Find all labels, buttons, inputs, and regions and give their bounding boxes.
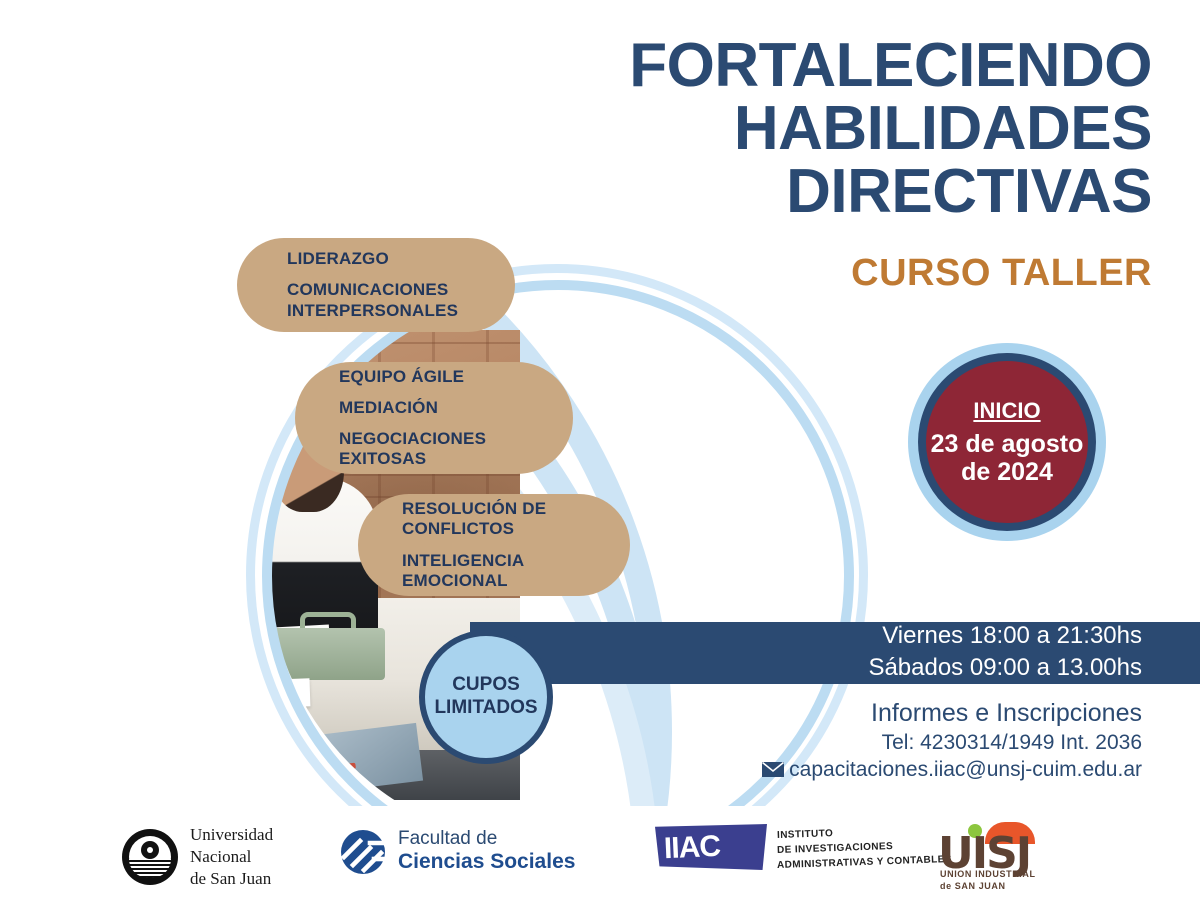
unsj-line-1: Universidad [190, 824, 273, 846]
unsj-logo-text: Universidad Nacional de San Juan [190, 824, 273, 889]
decor-ring-right-1 [1132, 428, 1200, 594]
topic-pill-equipo-agile: EQUIPO ÁGILE MEDIACIÓN NEGOCIACIONES EXI… [295, 362, 573, 474]
logo-unsj: Universidad Nacional de San Juan [122, 824, 273, 889]
contact-email-row: capacitaciones.iiac@unsj-cuim.edu.ar [762, 756, 1142, 783]
topic-line: INTERPERSONALES [287, 301, 515, 321]
iiac-mark-icon: IIAC [655, 824, 767, 870]
unsj-seal-icon [122, 829, 178, 885]
logo-facultad-ciencias-sociales: Facultad de Ciencias Sociales [340, 828, 575, 875]
poster-subtitle: CURSO TALLER [851, 252, 1152, 295]
unsj-line-2: Nacional [190, 846, 273, 868]
uisj-logo-text: UNION INDUSTRIAL de SAN JUAN [940, 868, 1036, 892]
uisj-line-2: de SAN JUAN [940, 880, 1036, 892]
poster-canvas: FORTALECIENDO HABILIDADES DIRECTIVAS CUR… [0, 0, 1200, 900]
facultad-line-1: Facultad de [398, 828, 575, 850]
contact-phone: Tel: 4230314/1949 Int. 2036 [762, 729, 1142, 756]
contact-email[interactable]: capacitaciones.iiac@unsj-cuim.edu.ar [789, 756, 1142, 783]
topic-line: LIDERAZGO [287, 249, 515, 269]
envelope-icon [762, 762, 784, 777]
facultad-logo-text: Facultad de Ciencias Sociales [398, 828, 575, 875]
iiac-logo-text: INSTITUTO DE INVESTIGACIONES ADMINISTRAT… [777, 825, 952, 870]
schedule-line-1: Viernes 18:00 a 21:30hs [868, 620, 1142, 652]
topic-line: RESOLUCIÓN DE [402, 499, 630, 519]
logo-iiac: IIAC INSTITUTO DE INVESTIGACIONES ADMINI… [655, 824, 952, 870]
inicio-date-line-2: de 2024 [961, 458, 1053, 486]
unsj-gear-icon [141, 841, 159, 859]
topic-line: EMOCIONAL [402, 571, 630, 591]
uisj-line-1: UNION INDUSTRIAL [940, 868, 1036, 880]
title-line-3: DIRECTIVAS [412, 160, 1152, 223]
cupos-line-2: LIMITADOS [434, 697, 537, 720]
topic-pill-resolucion-conflictos: RESOLUCIÓN DE CONFLICTOS INTELIGENCIA EM… [358, 494, 630, 596]
decor-ring-right-2 [1120, 416, 1200, 602]
contact-heading: Informes e Inscripciones [762, 698, 1142, 729]
inicio-label: INICIO [973, 398, 1040, 424]
topic-line: CONFLICTOS [402, 519, 630, 539]
facultad-mark-icon [340, 829, 386, 875]
facultad-line-2: Ciencias Sociales [398, 850, 575, 875]
cupos-line-1: CUPOS [452, 674, 520, 697]
title-line-2: HABILIDADES [412, 97, 1152, 160]
unsj-line-3: de San Juan [190, 868, 273, 890]
inicio-badge: INICIO 23 de agosto de 2024 [926, 361, 1088, 523]
schedule-text: Viernes 18:00 a 21:30hs Sábados 09:00 a … [868, 620, 1142, 684]
topic-line: NEGOCIACIONES [339, 429, 573, 449]
iiac-acronym: IIAC [663, 830, 720, 866]
inicio-date-line-1: 23 de agosto [931, 430, 1084, 458]
cupos-limitados-badge: CUPOS LIMITADOS [419, 630, 553, 764]
poster-title: FORTALECIENDO HABILIDADES DIRECTIVAS [412, 34, 1152, 224]
topic-line: EXITOSAS [339, 449, 573, 469]
topic-line: COMUNICACIONES [287, 280, 515, 300]
topic-line: INTELIGENCIA [402, 551, 630, 571]
topic-line: MEDIACIÓN [339, 398, 573, 418]
footer-logo-bar: Universidad Nacional de San Juan [0, 806, 1200, 900]
topic-pill-liderazgo: LIDERAZGO COMUNICACIONES INTERPERSONALES [237, 238, 515, 332]
topic-line: EQUIPO ÁGILE [339, 367, 573, 387]
uisj-mark-icon: UISJ UNION INDUSTRIAL de SAN JUAN [938, 820, 1042, 886]
logo-uisj: UISJ UNION INDUSTRIAL de SAN JUAN [938, 820, 1042, 886]
decor-gray-circle-right [1146, 442, 1200, 566]
contact-block: Informes e Inscripciones Tel: 4230314/19… [762, 698, 1142, 783]
schedule-line-2: Sábados 09:00 a 13.00hs [868, 652, 1142, 684]
title-line-1: FORTALECIENDO [412, 34, 1152, 97]
